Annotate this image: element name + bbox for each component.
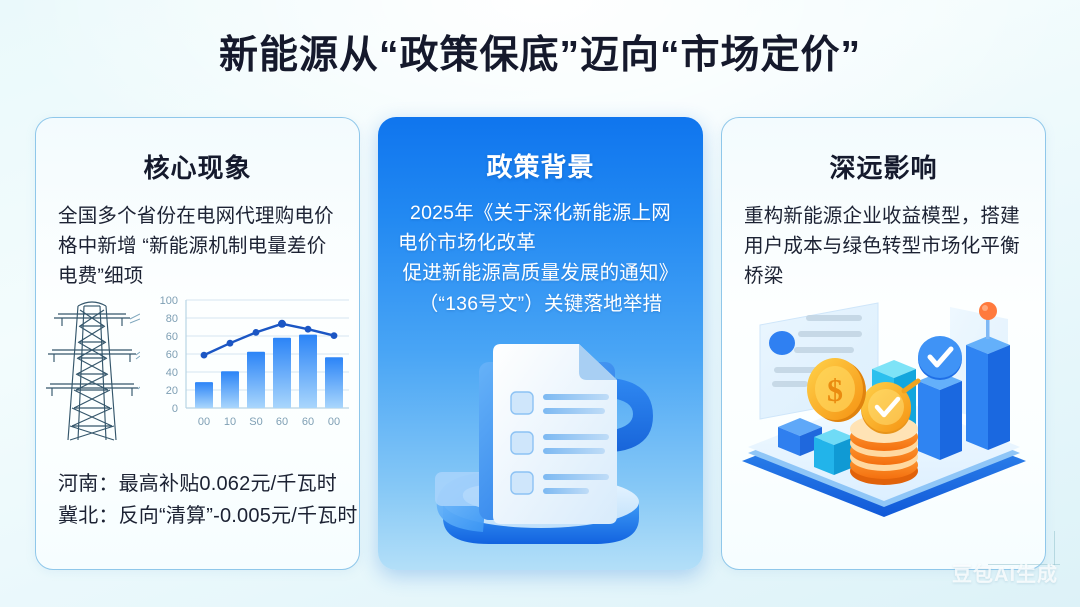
footer-line-jibei: 冀北：反向“清算”-0.005元/千瓦时 bbox=[58, 500, 358, 532]
watermark: 豆包AI生成 bbox=[952, 558, 1058, 587]
svg-text:60: 60 bbox=[276, 416, 288, 428]
card-title: 深远影响 bbox=[722, 148, 1045, 185]
card-body: 2025年《关于深化新能源上网 电价市场化改革 促进新能源高质量发展的通知》 （… bbox=[398, 198, 683, 319]
svg-text:00: 00 bbox=[328, 416, 340, 428]
card1-footer: 河南：最高补贴0.062元/千瓦时 冀北：反向“清算”-0.005元/千瓦时 bbox=[58, 468, 358, 533]
svg-text:100: 100 bbox=[160, 295, 178, 307]
document-checklist-illustration bbox=[415, 322, 667, 560]
check-badge-icon bbox=[918, 336, 962, 380]
body-line-4: （“136号文”）关键落地举措 bbox=[398, 289, 683, 319]
body-line-2: 电价市场化改革 bbox=[398, 228, 683, 258]
svg-text:S0: S0 bbox=[249, 416, 262, 428]
svg-text:00: 00 bbox=[198, 416, 210, 428]
svg-text:40: 40 bbox=[166, 367, 178, 379]
card-title: 核心现象 bbox=[36, 148, 359, 185]
mini-bar-line-chart: 100 80 60 60 40 20 0 bbox=[144, 288, 356, 440]
svg-text:10: 10 bbox=[224, 416, 236, 428]
power-transmission-tower-icon bbox=[44, 292, 140, 444]
svg-text:60: 60 bbox=[166, 331, 178, 343]
svg-text:20: 20 bbox=[166, 385, 178, 397]
svg-text:60: 60 bbox=[302, 416, 314, 428]
svg-text:60: 60 bbox=[166, 349, 178, 361]
svg-text:80: 80 bbox=[166, 313, 178, 325]
card1-visual-row: 100 80 60 60 40 20 0 bbox=[36, 288, 360, 448]
body-line-3: 促进新能源高质量发展的通知》 bbox=[398, 258, 683, 288]
svg-text:$: $ bbox=[827, 372, 843, 408]
svg-text:0: 0 bbox=[172, 403, 178, 415]
card-body: 全国多个省份在电网代理购电价格中新增 “新能源机制电量差价电费”细项 bbox=[58, 201, 337, 292]
isometric-growth-chart-illustration: $ bbox=[734, 285, 1034, 533]
card-title: 政策背景 bbox=[378, 147, 703, 184]
body-line-1: 2025年《关于深化新能源上网 bbox=[398, 198, 683, 228]
card-core-phenomenon: 核心现象 全国多个省份在电网代理购电价格中新增 “新能源机制电量差价电费”细项 bbox=[35, 117, 360, 570]
card-body: 重构新能源企业收益模型，搭建用户成本与绿色转型市场化平衡桥梁 bbox=[744, 201, 1023, 292]
footer-line-henan: 河南：最高补贴0.062元/千瓦时 bbox=[58, 468, 358, 500]
page-title: 新能源从“政策保底”迈向“市场定价” bbox=[0, 24, 1080, 80]
card-far-reaching-impact: 深远影响 重构新能源企业收益模型，搭建用户成本与绿色转型市场化平衡桥梁 bbox=[721, 117, 1046, 570]
card-policy-background: 政策背景 2025年《关于深化新能源上网 电价市场化改革 促进新能源高质量发展的… bbox=[378, 117, 703, 570]
cards-row: 核心现象 全国多个省份在电网代理购电价格中新增 “新能源机制电量差价电费”细项 bbox=[35, 117, 1047, 570]
